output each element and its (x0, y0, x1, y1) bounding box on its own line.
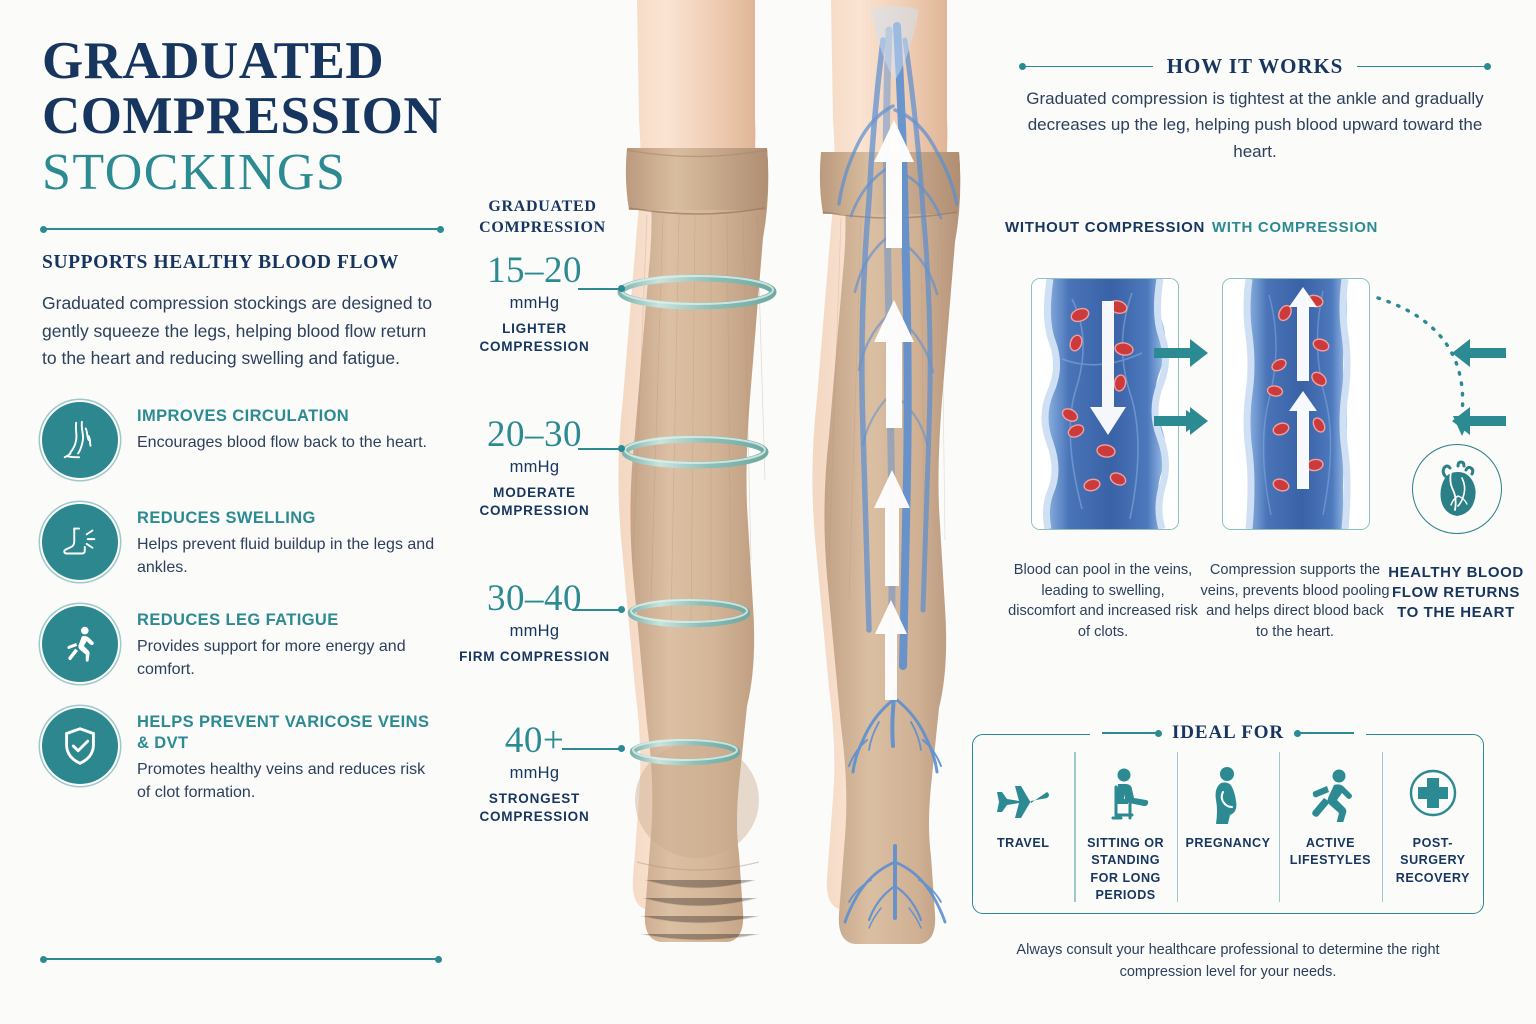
running-person-icon (42, 606, 118, 682)
ideal-item-pregnancy: PREGNANCY (1177, 746, 1279, 912)
left-leg (618, 0, 773, 942)
title-line-3: STOCKINGS (42, 144, 442, 202)
medical-cross-icon (1406, 764, 1460, 826)
shield-check-icon (42, 708, 118, 784)
pregnant-person-icon (1207, 764, 1249, 826)
ideal-item-sitting-standing: SITTING OR STANDING FOR LONG PERIODS (1074, 746, 1176, 912)
level-desc: MODERATE COMPRESSION (452, 484, 617, 519)
how-it-works-header: HOW IT WORKS (1020, 54, 1490, 79)
benefit-heading: REDUCES SWELLING (137, 508, 442, 529)
bottom-divider (42, 958, 440, 960)
compression-level: 30–40 mmHg FIRM COMPRESSION (452, 580, 617, 666)
how-it-works-title: HOW IT WORKS (1167, 54, 1344, 79)
compression-level: 40+ mmHg STRONGEST COMPRESSION (452, 722, 617, 825)
ideal-for-items: TRAVEL SITTING OR STANDING FOR LONG PERI… (972, 746, 1484, 912)
how-it-works-body: Graduated compression is tightest at the… (1020, 86, 1490, 165)
infographic-canvas: GRADUATED COMPRESSION STOCKINGS SUPPORTS… (0, 0, 1536, 1024)
intro-paragraph: Graduated compression stockings are desi… (42, 290, 442, 372)
ideal-item-post-surgery: POST-SURGERY RECOVERY (1382, 746, 1484, 912)
heart-icon (1412, 444, 1502, 534)
benefit-item: REDUCES SWELLING Helps prevent fluid bui… (42, 504, 442, 580)
without-compression-label: WITHOUT COMPRESSION (1005, 218, 1205, 238)
level-value: 40+ (452, 722, 617, 759)
varicose-leg-icon (42, 402, 118, 478)
leader-line (578, 448, 622, 450)
ideal-for-title: IDEAL FOR (1172, 722, 1284, 744)
ideal-item-label: PREGNANCY (1182, 835, 1275, 852)
ideal-rule-right (1296, 732, 1354, 734)
with-compression-caption: Compression supports the veins, prevents… (1200, 560, 1390, 643)
seated-person-icon (1100, 764, 1152, 826)
level-unit: mmHg (452, 294, 617, 313)
level-desc: STRONGEST COMPRESSION (452, 790, 617, 825)
subheading: SUPPORTS HEALTHY BLOOD FLOW (42, 252, 442, 274)
benefit-body: Promotes healthy veins and reduces risk … (137, 758, 442, 804)
benefit-body: Encourages blood flow back to the heart. (137, 431, 427, 454)
header-rule-left (1020, 66, 1153, 68)
right-leg-with-veins (812, 0, 960, 944)
airplane-icon (995, 764, 1051, 826)
benefit-heading: IMPROVES CIRCULATION (137, 406, 427, 427)
left-column: GRADUATED COMPRESSION STOCKINGS SUPPORTS… (42, 34, 442, 830)
ideal-for-header: IDEAL FOR (972, 722, 1484, 744)
flow-triangle-icon (1184, 408, 1204, 434)
title-divider (42, 228, 442, 230)
without-compression-caption: Blood can pool in the veins, leading to … (1008, 560, 1198, 643)
benefit-body: Helps prevent fluid buildup in the legs … (137, 533, 442, 579)
title-line-2: COMPRESSION (42, 89, 442, 144)
benefit-heading: HELPS PREVENT VARICOSE VEINS & DVT (137, 712, 442, 753)
level-unit: mmHg (452, 458, 617, 477)
level-desc: FIRM COMPRESSION (452, 648, 617, 666)
heart-label: HEALTHY BLOOD FLOW RETURNS TO THE HEART (1380, 563, 1532, 623)
compression-level: 15–20 mmHg LIGHTER COMPRESSION (452, 252, 617, 355)
legs-illustration (575, 0, 975, 985)
swollen-ankle-icon (42, 504, 118, 580)
ideal-item-label: TRAVEL (993, 835, 1053, 852)
leader-line (578, 288, 622, 290)
benefit-body: Provides support for more energy and com… (137, 635, 442, 681)
level-unit: mmHg (452, 764, 617, 783)
dotted-flow-arrow (1370, 288, 1530, 458)
level-desc: LIGHTER COMPRESSION (452, 320, 617, 355)
benefit-item: REDUCES LEG FATIGUE Provides support for… (42, 606, 442, 682)
level-value: 15–20 (452, 252, 617, 289)
ideal-item-active: ACTIVE LIFESTYLES (1279, 746, 1381, 912)
ideal-item-label: SITTING OR STANDING FOR LONG PERIODS (1074, 835, 1176, 905)
ideal-item-label: POST-SURGERY RECOVERY (1382, 835, 1484, 887)
leader-line (572, 609, 622, 611)
with-compression-label: WITH COMPRESSION (1195, 218, 1395, 238)
benefit-item: IMPROVES CIRCULATION Encourages blood fl… (42, 402, 442, 478)
header-rule-right (1357, 66, 1490, 68)
leader-line (562, 748, 622, 750)
disclaimer-text: Always consult your healthcare professio… (1000, 940, 1456, 984)
level-value: 30–40 (452, 580, 617, 617)
level-unit: mmHg (452, 622, 617, 641)
ideal-item-travel: TRAVEL (972, 746, 1074, 912)
ideal-rule-left (1102, 732, 1160, 734)
running-person-icon (1303, 764, 1357, 826)
graduated-compression-header: GRADUATED COMPRESSION (470, 196, 615, 238)
benefit-item: HELPS PREVENT VARICOSE VEINS & DVT Promo… (42, 708, 442, 804)
ideal-item-label: ACTIVE LIFESTYLES (1279, 835, 1381, 870)
benefits-list: IMPROVES CIRCULATION Encourages blood fl… (42, 402, 442, 804)
compression-level: 20–30 mmHg MODERATE COMPRESSION (452, 416, 617, 519)
title-line-1: GRADUATED (42, 34, 442, 89)
benefit-heading: REDUCES LEG FATIGUE (137, 610, 442, 631)
